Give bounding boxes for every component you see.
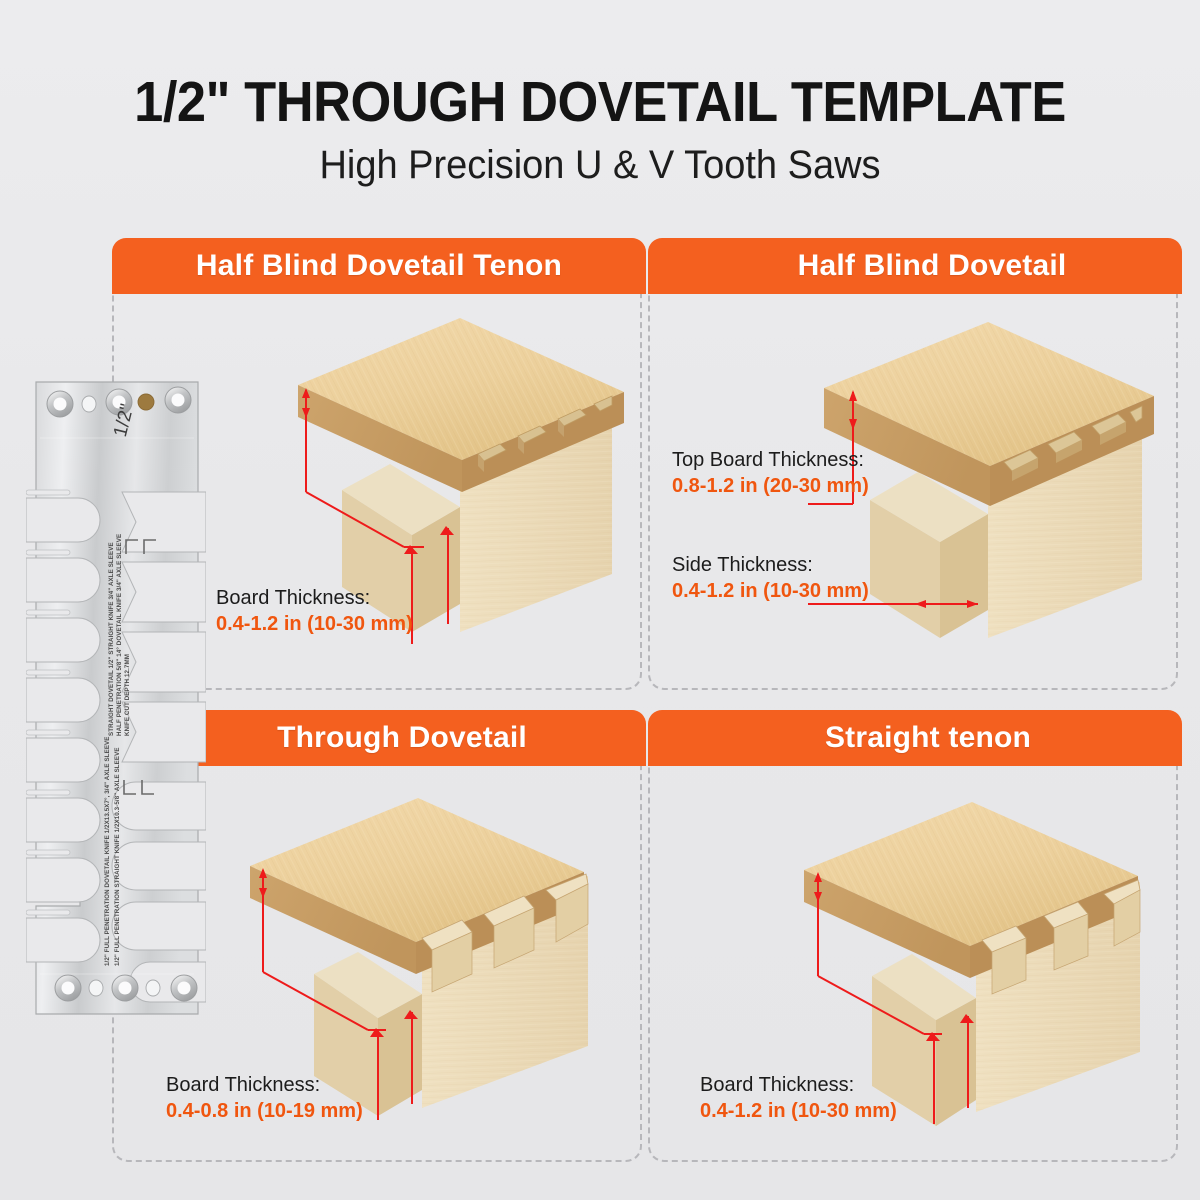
annotation-value: 0.4-0.8 in (10-19 mm) [166,1098,363,1124]
page-title: 1/2" THROUGH DOVETAIL TEMPLATE [48,74,1152,131]
annotation-value: 0.4-1.2 in (10-30 mm) [700,1098,897,1124]
annotation-value: 0.4-1.2 in (10-30 mm) [672,578,869,604]
template-engraving-1: STRAIGHT DOVETAIL 1/2" STRAIGHT KNIFE 3/… [108,542,115,736]
annotation-label: Board Thickness: [216,586,413,611]
header-block: 1/2" THROUGH DOVETAIL TEMPLATE High Prec… [0,74,1200,188]
annotation-board-thickness-panel3: Board Thickness: 0.4-0.8 in (10-19 mm) [166,1073,363,1124]
template-engraving-3: KNIFE CUT DEPTH 12.7MM [124,654,131,736]
panel-title-straight-tenon: Straight tenon [648,710,1182,766]
annotation-top-board-thickness-panel2: Top Board Thickness: 0.8-1.2 in (20-30 m… [672,448,869,499]
panel-title-half-blind-dovetail-tenon: Half Blind Dovetail Tenon [112,238,646,294]
template-mounting-holes-bottom [55,975,197,1001]
annotation-label: Top Board Thickness: [672,448,869,473]
annotation-label: Side Thickness: [672,553,869,578]
annotation-side-thickness-panel2: Side Thickness: 0.4-1.2 in (10-30 mm) [672,553,869,604]
engraving-bracket-icon [122,528,162,568]
annotation-value: 0.8-1.2 in (20-30 mm) [672,473,869,499]
annotation-board-thickness-panel1: Board Thickness: 0.4-1.2 in (10-30 mm) [216,586,413,637]
annotation-label: Board Thickness: [700,1073,897,1098]
annotation-board-thickness-panel4: Board Thickness: 0.4-1.2 in (10-30 mm) [700,1073,897,1124]
dovetail-template-tool: 1/2" STRAIGHT DOVETAIL 1/2" STRAIGHT KNI… [26,378,206,1058]
page-subtitle: High Precision U & V Tooth Saws [30,143,1170,188]
template-engraving-4: 1/2" FULL PENETRATION DOVETAIL KNIFE 1/2… [104,737,111,967]
engraving-bracket-icon-lower [120,766,160,806]
annotation-label: Board Thickness: [166,1073,363,1098]
annotation-value: 0.4-1.2 in (10-30 mm) [216,611,413,637]
infographic-canvas: 1/2" THROUGH DOVETAIL TEMPLATE High Prec… [0,0,1200,1200]
panel-title-half-blind-dovetail: Half Blind Dovetail [648,238,1182,294]
